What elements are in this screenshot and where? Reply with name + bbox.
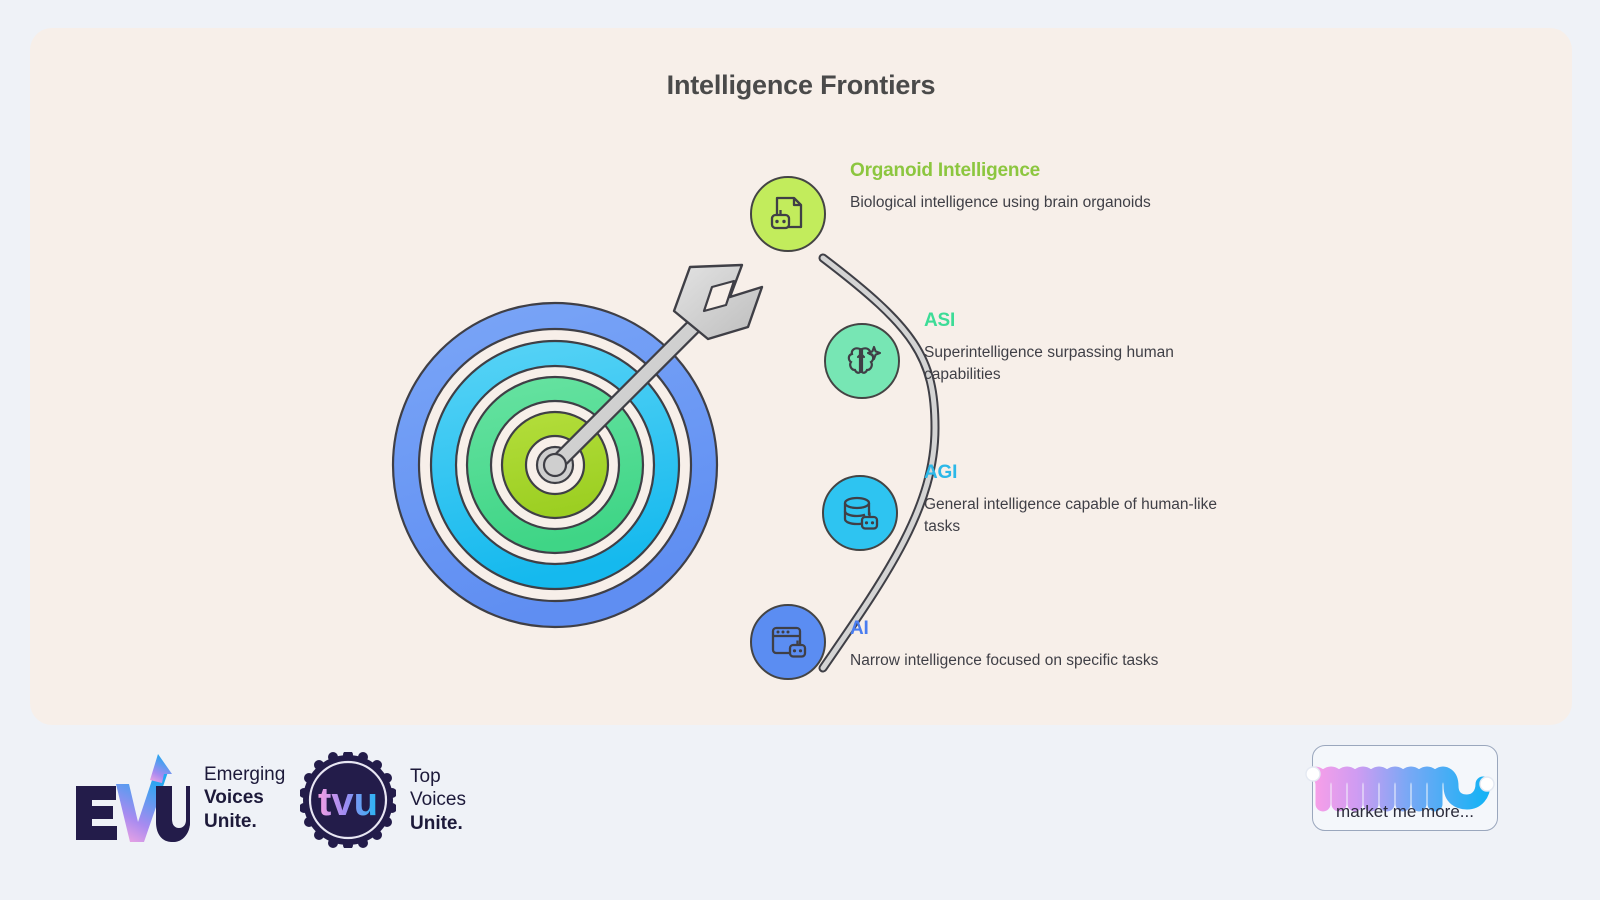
brain-sparkle-icon xyxy=(841,340,883,382)
tvu-line-1: Top xyxy=(410,765,466,788)
svg-text:tvu: tvu xyxy=(318,780,378,824)
stage-description-agi: General intelligence capable of human-li… xyxy=(924,494,1254,538)
tvu-logo: tvu Top Voices Unite. xyxy=(300,752,466,848)
tvu-line-2: Voices xyxy=(410,788,466,811)
database-robot-icon xyxy=(839,492,881,534)
stage-title-organoid-intelligence: Organoid Intelligence xyxy=(850,160,1180,182)
stage-text-ai: AI Narrow intelligence focused on specif… xyxy=(850,618,1180,672)
stage-description-ai: Narrow intelligence focused on specific … xyxy=(850,650,1180,672)
stage-icon-circle-asi[interactable] xyxy=(824,323,900,399)
page-title: Intelligence Frontiers xyxy=(30,70,1572,101)
mmm-logo-frame: market me more... xyxy=(1312,745,1498,831)
stage-description-organoid-intelligence: Biological intelligence using brain orga… xyxy=(850,192,1180,214)
mmm-caption: market me more... xyxy=(1313,802,1497,822)
target-svg xyxy=(390,253,810,653)
evu-logo: Emerging Voices Unite. xyxy=(72,752,285,844)
stage-title-ai: AI xyxy=(850,618,1180,640)
evu-wordmark: Emerging Voices Unite. xyxy=(204,763,285,833)
screenshot-root: Intelligence Frontiers xyxy=(0,0,1600,900)
evu-line-1: Emerging xyxy=(204,763,285,786)
evu-logomark xyxy=(72,752,190,844)
stage-icon-circle-organoid-intelligence[interactable] xyxy=(750,176,826,252)
target-graphic xyxy=(390,253,810,653)
stage-text-organoid-intelligence: Organoid Intelligence Biological intelli… xyxy=(850,160,1180,214)
browser-robot-icon xyxy=(767,621,809,663)
evu-line-3: Unite. xyxy=(204,810,285,833)
stage-text-asi: ASI Superintelligence surpassing human c… xyxy=(924,310,1254,386)
tvu-line-3: Unite. xyxy=(410,812,466,835)
evu-line-2: Voices xyxy=(204,786,285,809)
stage-title-agi: AGI xyxy=(924,462,1254,484)
document-robot-icon xyxy=(767,193,809,235)
stage-icon-circle-agi[interactable] xyxy=(822,475,898,551)
market-me-more-logo: market me more... xyxy=(1312,745,1498,831)
tvu-logomark: tvu xyxy=(300,752,396,848)
infographic-card: Intelligence Frontiers xyxy=(30,28,1572,725)
stage-icon-circle-ai[interactable] xyxy=(750,604,826,680)
stage-title-asi: ASI xyxy=(924,310,1254,332)
stage-text-agi: AGI General intelligence capable of huma… xyxy=(924,462,1254,538)
tvu-wordmark: Top Voices Unite. xyxy=(410,765,466,835)
stage-description-asi: Superintelligence surpassing human capab… xyxy=(924,342,1254,386)
